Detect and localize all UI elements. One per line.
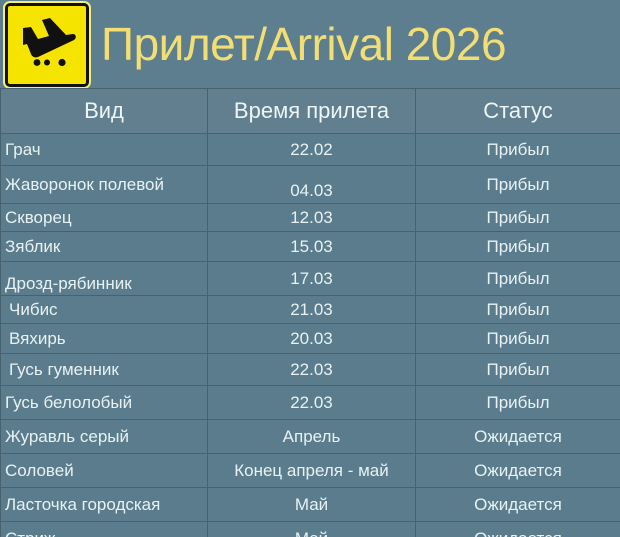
cell-status: Прибыл [416, 262, 620, 296]
cell-status: Прибыл [416, 204, 620, 232]
cell-status: Прибыл [416, 296, 620, 324]
cell-species: Соловей [1, 454, 208, 488]
cell-time: 15.03 [208, 232, 416, 262]
table-row: Вяхирь 20.03 Прибыл [1, 324, 620, 354]
cell-species: Жаворонок полевой [1, 166, 208, 204]
table-row: Ласточка городская Май Ожидается [1, 488, 620, 522]
page-title: Прилет/Arrival 2026 [101, 21, 506, 67]
cell-time: Май [208, 522, 416, 537]
table-row: Скворец 12.03 Прибыл [1, 204, 620, 232]
column-header-species: Вид [1, 89, 208, 134]
cell-status: Прибыл [416, 134, 620, 166]
cell-status: Ожидается [416, 522, 620, 537]
cell-time: 22.03 [208, 354, 416, 386]
table-row: Гусь белолобый 22.03 Прибыл [1, 386, 620, 420]
cell-species: Вяхирь [1, 324, 208, 354]
cell-status: Прибыл [416, 354, 620, 386]
column-header-arrival-time: Время прилета [208, 89, 416, 134]
table-row: Зяблик 15.03 Прибыл [1, 232, 620, 262]
cell-time: 17.03 [208, 262, 416, 296]
cell-time: Апрель [208, 420, 416, 454]
cell-time: Май [208, 488, 416, 522]
cell-status: Ожидается [416, 488, 620, 522]
cell-species: Гусь гуменник [1, 354, 208, 386]
cell-time: 20.03 [208, 324, 416, 354]
title-bar: Прилет/Arrival 2026 [0, 0, 620, 88]
arrival-board: Прилет/Arrival 2026 Вид Время прилета Ст… [0, 0, 620, 537]
cell-species: Гусь белолобый [1, 386, 208, 420]
cell-time: 21.03 [208, 296, 416, 324]
table-row: Грач 22.02 Прибыл [1, 134, 620, 166]
cell-species: Грач [1, 134, 208, 166]
column-header-status: Статус [416, 89, 620, 134]
airplane-arrival-sign-icon [5, 3, 89, 87]
cell-species: Стриж [1, 522, 208, 537]
table-row: Чибис 21.03 Прибыл [1, 296, 620, 324]
table-row: Соловей Конец апреля - май Ожидается [1, 454, 620, 488]
table-row: Стриж Май Ожидается [1, 522, 620, 537]
cell-status: Прибыл [416, 166, 620, 204]
cell-species: Чибис [1, 296, 208, 324]
cell-status: Прибыл [416, 232, 620, 262]
table-row: Дрозд-рябинник 17.03 Прибыл [1, 262, 620, 296]
table-row: Гусь гуменник 22.03 Прибыл [1, 354, 620, 386]
cell-species: Дрозд-рябинник [1, 262, 208, 296]
cell-status: Ожидается [416, 420, 620, 454]
table-body: Грач 22.02 Прибыл Жаворонок полевой 04.0… [1, 134, 620, 537]
cell-time: Конец апреля - май [208, 454, 416, 488]
cell-time: 22.03 [208, 386, 416, 420]
table-row: Жаворонок полевой 04.03 Прибыл [1, 166, 620, 204]
cell-time: 22.02 [208, 134, 416, 166]
cell-status: Прибыл [416, 386, 620, 420]
cell-species: Журавль серый [1, 420, 208, 454]
table-row: Журавль серый Апрель Ожидается [1, 420, 620, 454]
cell-species: Зяблик [1, 232, 208, 262]
cell-status: Прибыл [416, 324, 620, 354]
cell-time: 04.03 [208, 166, 416, 204]
cell-species: Скворец [1, 204, 208, 232]
arrivals-table: Вид Время прилета Статус Грач 22.02 Приб… [0, 88, 620, 537]
cell-time: 12.03 [208, 204, 416, 232]
cell-species: Ласточка городская [1, 488, 208, 522]
cell-status: Ожидается [416, 454, 620, 488]
table-header-row: Вид Время прилета Статус [1, 89, 620, 134]
